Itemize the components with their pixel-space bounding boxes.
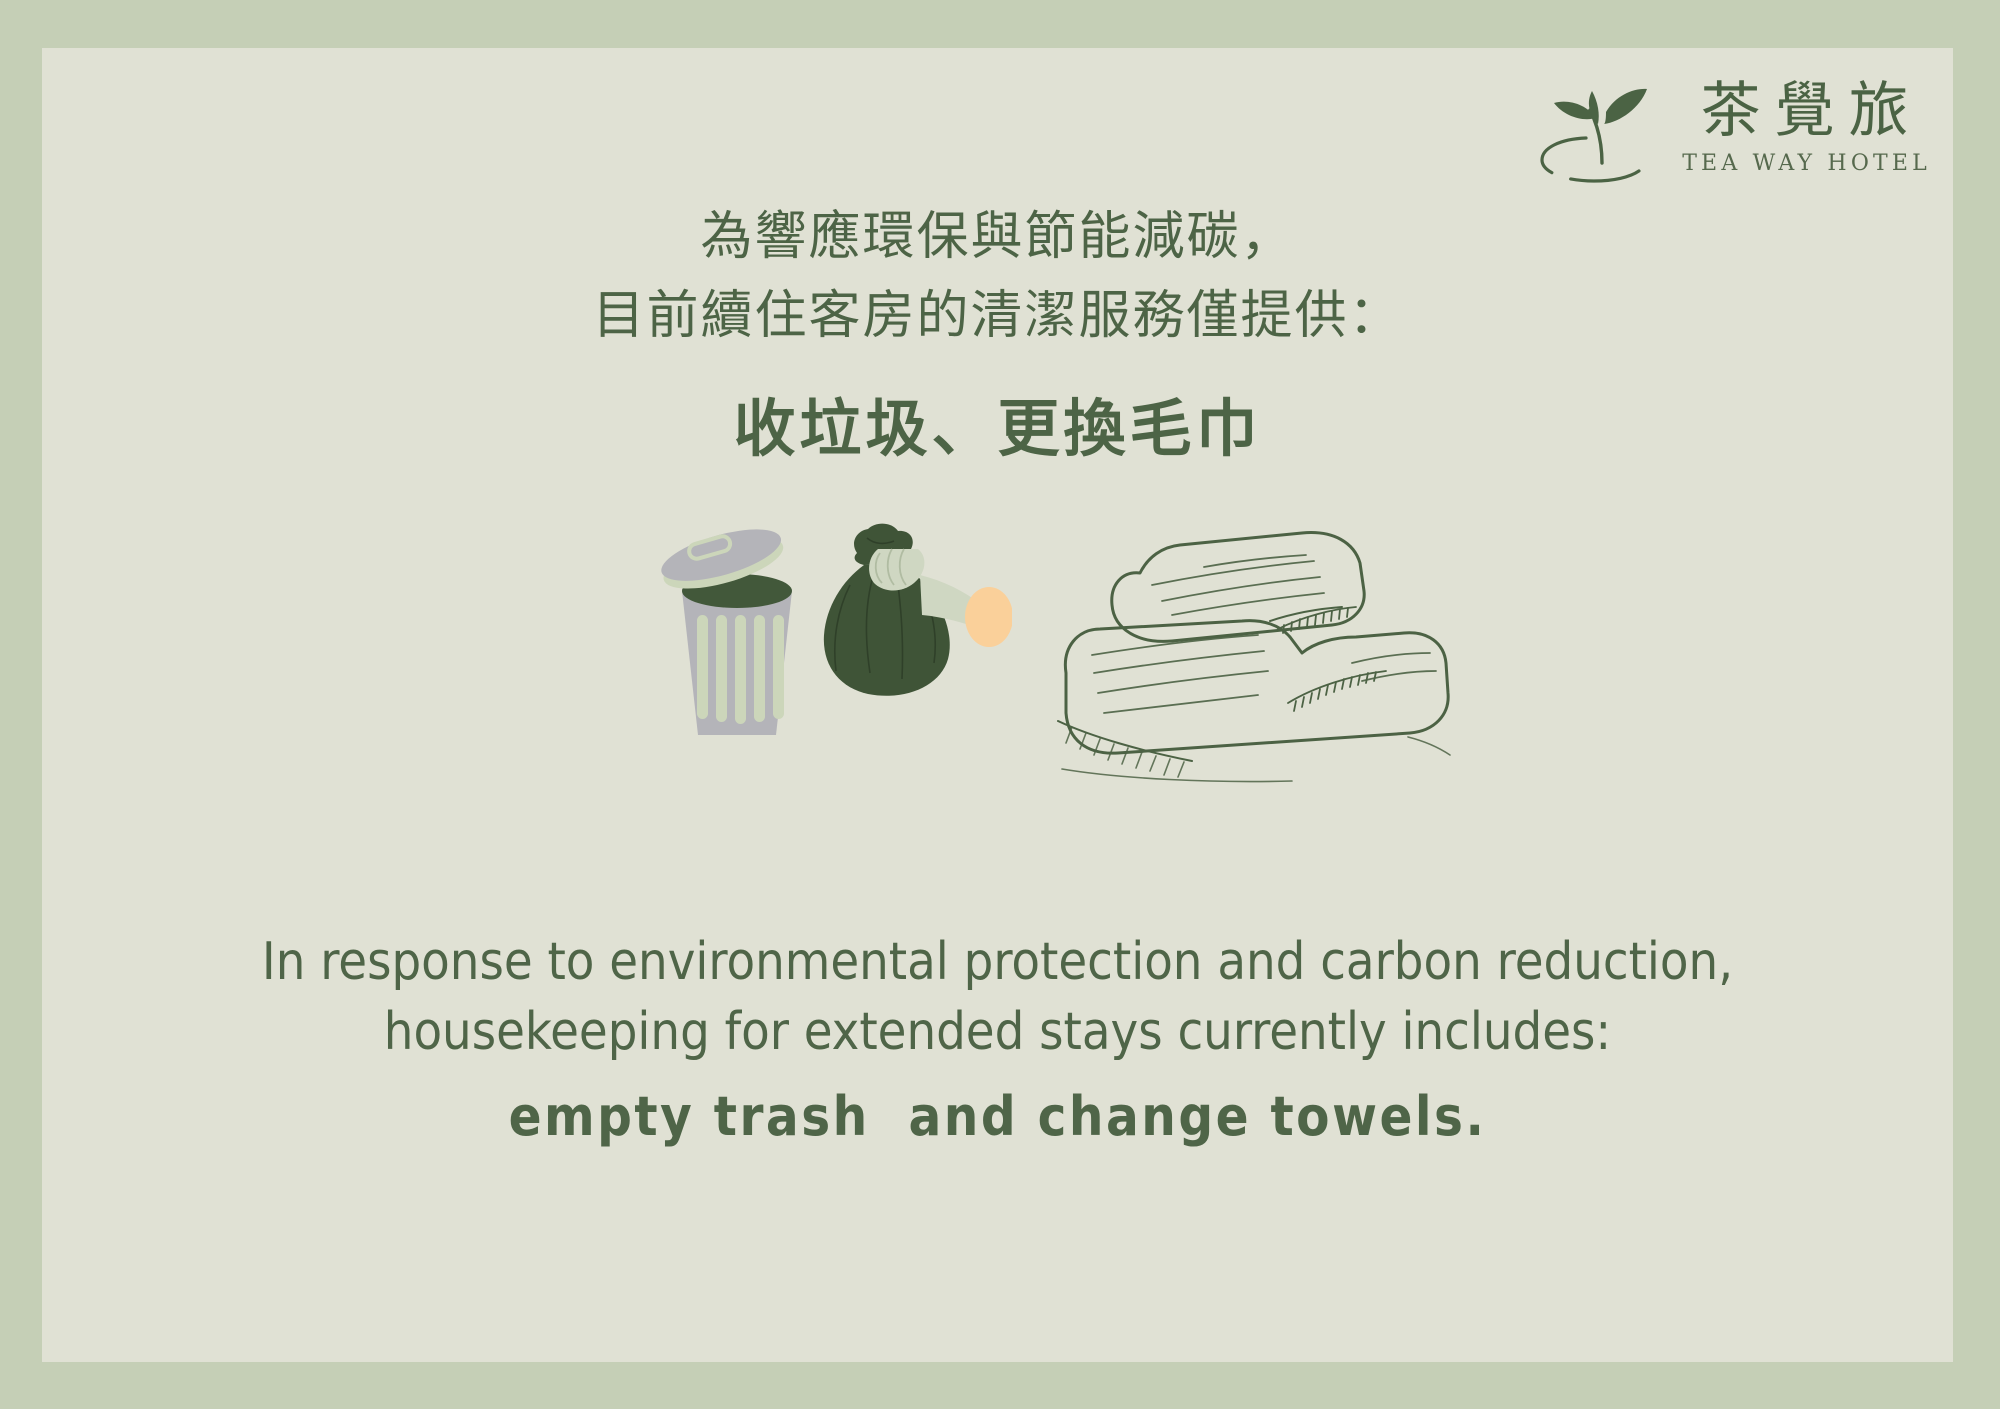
english-notice-emphasis: empty trash and change towels.	[42, 1081, 1953, 1153]
sleeve	[965, 587, 1012, 647]
chinese-notice: 為響應環保與節能減碳， 目前續住客房的清潔服務僅提供： 收垃圾、更換毛巾	[42, 198, 1953, 468]
english-notice: In response to environmental protection …	[42, 928, 1953, 1154]
chinese-notice-emphasis: 收垃圾、更換毛巾	[42, 378, 1953, 468]
poster-canvas: 茶覺旅 TEA WAY HOTEL 為響應環保與節能減碳， 目前續住客房的清潔服…	[0, 0, 2000, 1409]
english-notice-line-2: housekeeping for extended stays currentl…	[42, 998, 1953, 1068]
tea-sprout-icon	[1534, 66, 1670, 188]
folded-towels-illustration	[1052, 513, 1452, 783]
trash-can-illustration	[652, 503, 1012, 783]
poster-inner-panel: 茶覺旅 TEA WAY HOTEL 為響應環保與節能減碳， 目前續住客房的清潔服…	[42, 48, 1953, 1362]
hotel-logo: 茶覺旅 TEA WAY HOTEL	[1531, 62, 1931, 192]
logo-wordmark: 茶覺旅 TEA WAY HOTEL	[1678, 78, 1931, 176]
english-notice-line-1: In response to environmental protection …	[42, 928, 1953, 998]
chinese-notice-line-2: 目前續住客房的清潔服務僅提供：	[42, 277, 1953, 356]
trash-can-body	[682, 574, 792, 735]
logo-english-name: TEA WAY HOTEL	[1678, 151, 1931, 176]
illustration-row	[42, 503, 1953, 753]
logo-chinese-name: 茶覺旅	[1687, 78, 1923, 145]
towel-bottom	[1065, 621, 1448, 754]
chinese-notice-line-1: 為響應環保與節能減碳，	[42, 198, 1953, 277]
